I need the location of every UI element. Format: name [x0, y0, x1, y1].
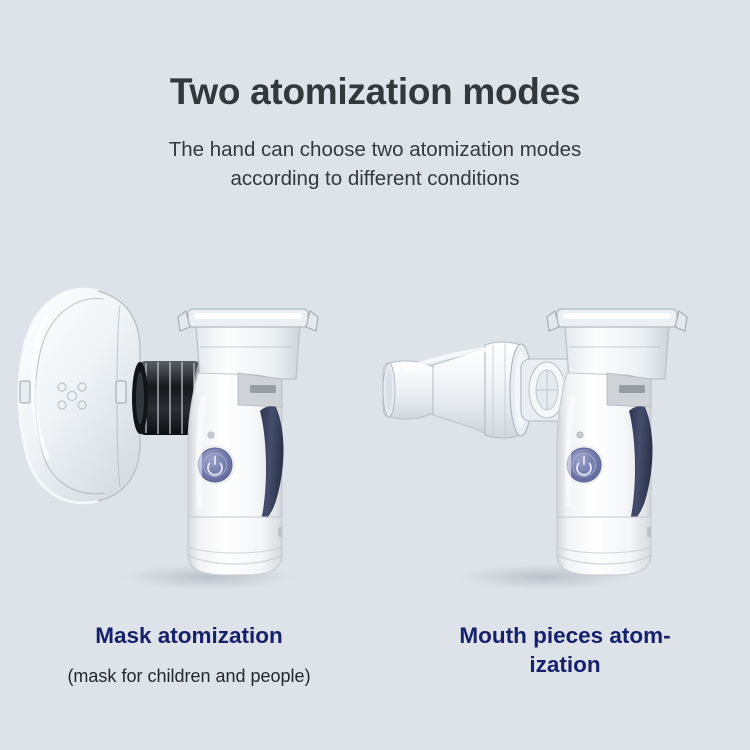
- mouthpiece-nebulizer-image: [375, 255, 750, 615]
- caption-mask: Mask atomization (mask for children and …: [24, 622, 354, 688]
- caption-mouthpiece: Mouth pieces atom- ization: [400, 622, 730, 680]
- page-title: Two atomization modes: [0, 72, 750, 113]
- control-panel: [607, 373, 651, 407]
- page-subtitle: The hand can choose two atomization mode…: [125, 135, 625, 194]
- control-panel: [238, 373, 282, 407]
- caption-mask-subtitle: (mask for children and people): [24, 665, 354, 688]
- led-indicator: [208, 432, 214, 438]
- led-indicator: [577, 432, 583, 438]
- product-mouthpiece-nebulizer: [375, 255, 750, 615]
- caption-mask-title: Mask atomization: [24, 622, 354, 651]
- medicine-cup: [547, 309, 687, 379]
- product-showcase: [0, 255, 750, 615]
- product-feature-page: Two atomization modes The hand can choos…: [0, 0, 750, 750]
- product-mask-nebulizer: [0, 255, 375, 615]
- caption-mouthpiece-title: Mouth pieces atom- ization: [400, 622, 730, 680]
- caption-row: Mask atomization (mask for children and …: [0, 622, 750, 742]
- device-base: [188, 517, 282, 575]
- medicine-cup: [178, 309, 318, 379]
- mouthpiece: [383, 342, 532, 438]
- face-mask: [19, 289, 140, 503]
- device-base: [557, 517, 651, 575]
- header: Two atomization modes The hand can choos…: [0, 0, 750, 194]
- mask-nebulizer-image: [0, 255, 375, 615]
